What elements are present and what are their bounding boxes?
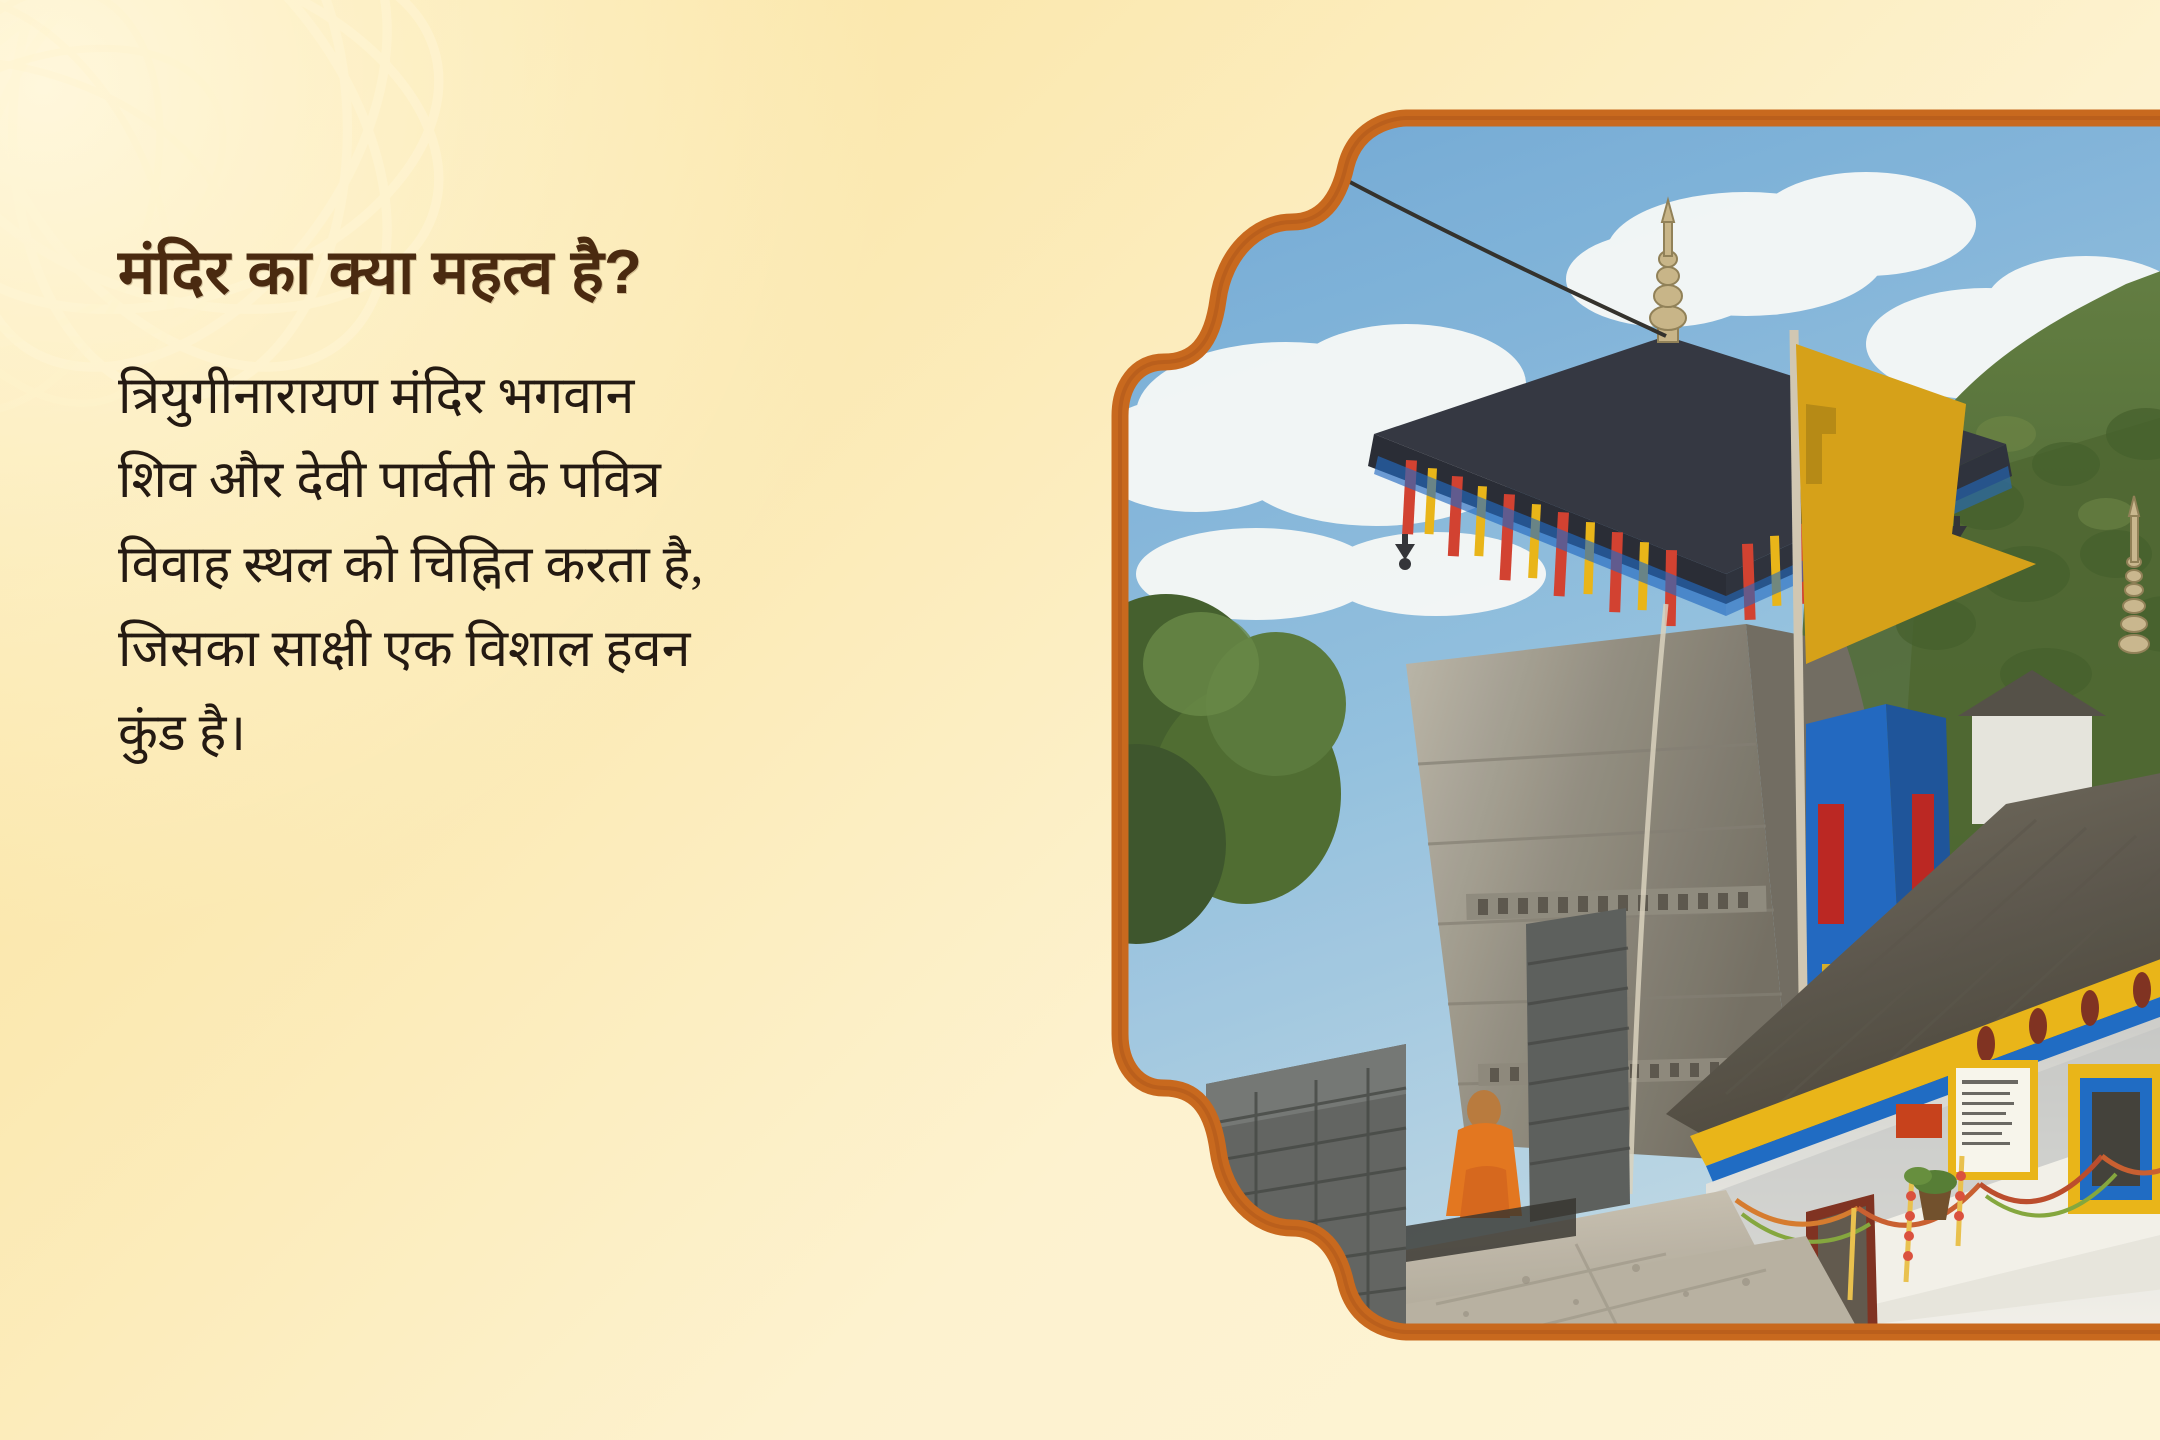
body-line: शिव और देवी पार्वती के पवित्र: [118, 439, 948, 523]
slide-canvas: मंदिर का क्या महत्व है? त्रियुगीनारायण म…: [0, 0, 2160, 1440]
body-line: कुंड है।: [118, 692, 948, 776]
body-line: जिसका साक्षी एक विशाल हवन: [118, 608, 948, 692]
body-line: त्रियुगीनारायण मंदिर भगवान: [118, 355, 948, 439]
page-title: मंदिर का क्या महत्व है?: [118, 236, 998, 309]
text-column: मंदिर का क्या महत्व है? त्रियुगीनारायण म…: [118, 236, 998, 776]
temple-photo-container: [1106, 104, 2160, 1344]
photo-content: [1106, 104, 2160, 1344]
temple-photograph: [1106, 104, 2160, 1344]
body-line: विवाह स्थल को चिह्नित करता है,: [118, 524, 948, 608]
body-paragraph: त्रियुगीनारायण मंदिर भगवान शिव और देवी प…: [118, 355, 948, 776]
